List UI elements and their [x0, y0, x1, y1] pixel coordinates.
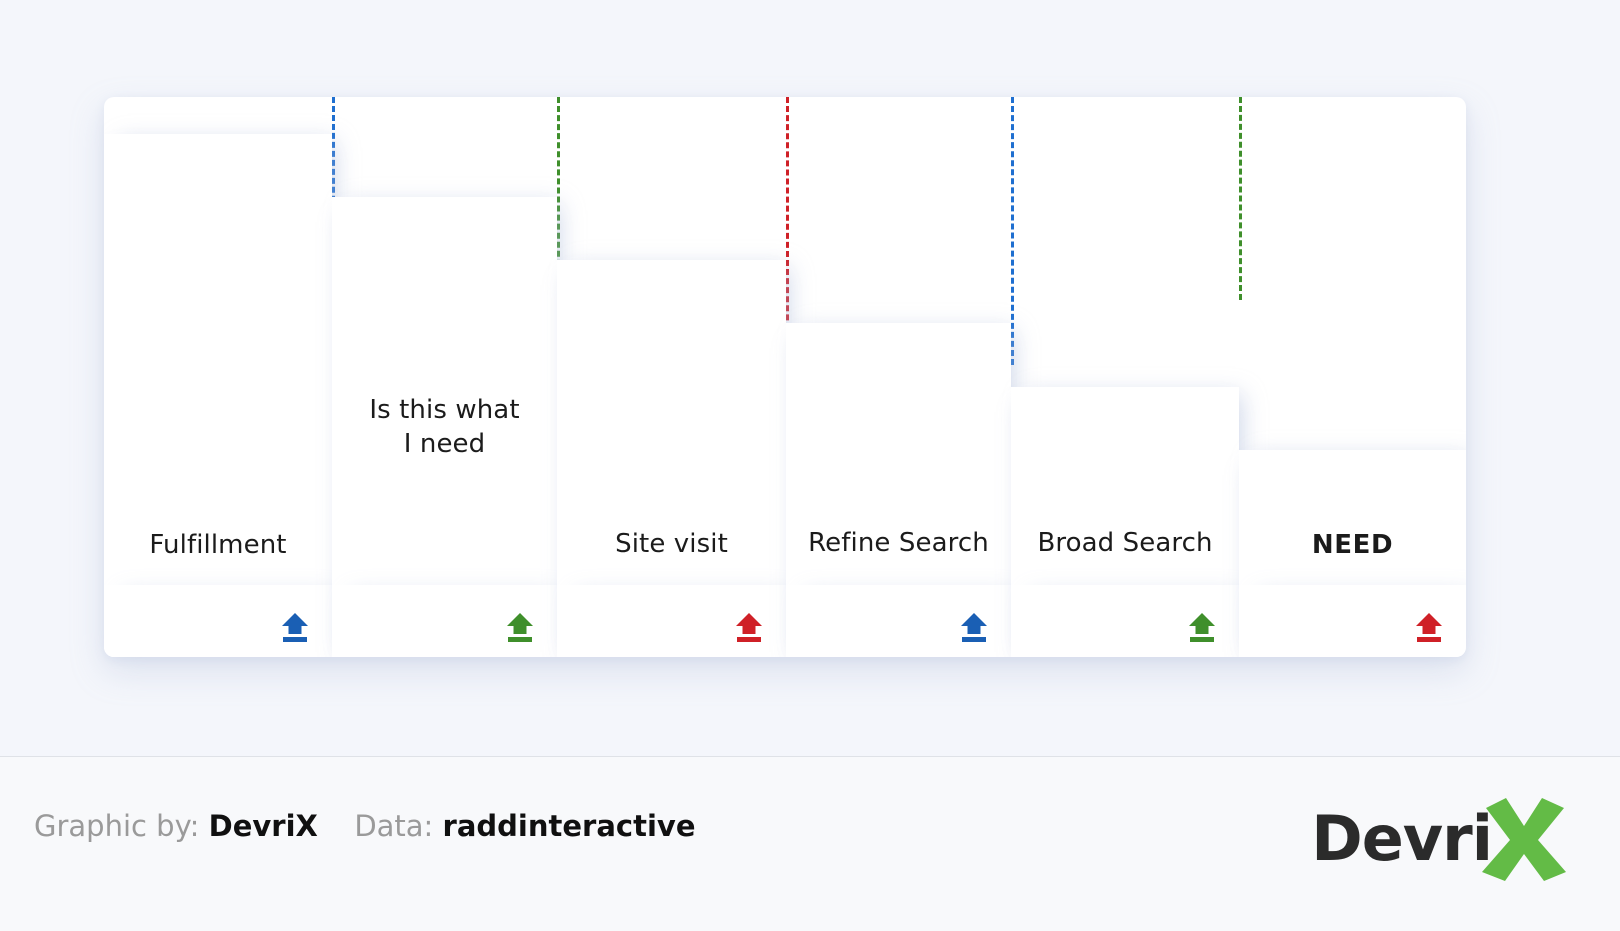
step-broad-search[interactable]: Broad Search — [1011, 387, 1239, 657]
step-label: Fulfillment — [104, 528, 332, 562]
step-tread — [1011, 585, 1239, 657]
step-refine-search[interactable]: Refine Search — [786, 323, 1011, 657]
upload-arrow-icon — [505, 611, 535, 643]
graphic-by-label: Graphic by: — [34, 809, 199, 843]
step-label: Broad Search — [1011, 526, 1239, 560]
logo-x-icon — [1476, 796, 1572, 882]
infographic-root: Fulfillment Is this what I need — [0, 0, 1620, 930]
step-label: Refine Search — [786, 526, 1011, 560]
chart-card: Fulfillment Is this what I need — [104, 97, 1466, 657]
data-source-label: Data: — [354, 809, 433, 843]
step-fulfillment[interactable]: Fulfillment — [104, 134, 332, 657]
step-label: NEED — [1239, 528, 1466, 562]
step-label: Is this what I need — [332, 393, 557, 462]
step-tread — [332, 585, 557, 657]
upload-arrow-icon — [1187, 611, 1217, 643]
step-riser — [104, 134, 332, 657]
step-tread — [557, 585, 786, 657]
graphic-by-value: DevriX — [209, 809, 318, 843]
data-source-value: raddinteractive — [443, 809, 696, 843]
upload-arrow-icon — [280, 611, 310, 643]
step-site-visit[interactable]: Site visit — [557, 260, 786, 657]
step-label: Site visit — [557, 527, 786, 561]
step-need[interactable]: NEED — [1239, 450, 1466, 657]
upload-arrow-icon — [734, 611, 764, 643]
divider-4 — [1011, 97, 1014, 365]
credits: Graphic by: DevriX Data: raddinteractive — [34, 812, 696, 841]
divider-5 — [1239, 97, 1242, 300]
logo-wordmark: Devri — [1311, 808, 1492, 870]
upload-arrow-icon — [1414, 611, 1444, 643]
upload-arrow-icon — [959, 611, 989, 643]
step-tread — [104, 585, 332, 657]
step-tread — [1239, 585, 1466, 657]
step-tread — [786, 585, 1011, 657]
devrix-logo: Devri — [1311, 799, 1572, 879]
staircase-chart: Fulfillment Is this what I need — [104, 97, 1466, 657]
footer-bar: Graphic by: DevriX Data: raddinteractive… — [0, 756, 1620, 931]
step-is-this-what-i-need[interactable]: Is this what I need — [332, 197, 557, 657]
